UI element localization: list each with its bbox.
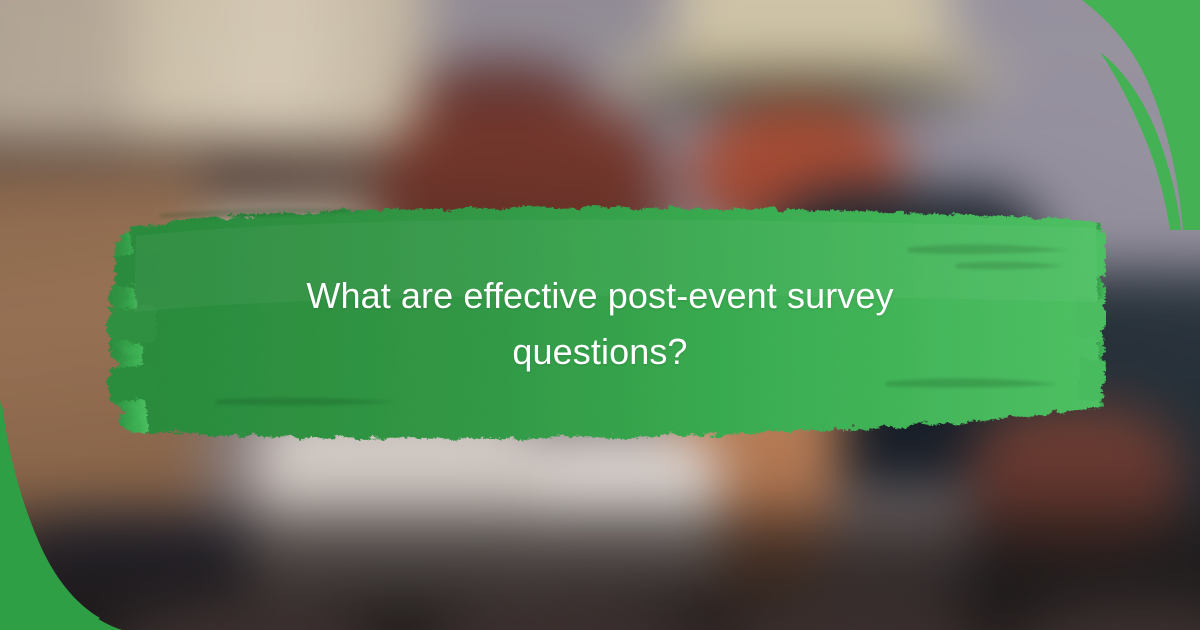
page-title: What are effective post-event survey que…	[0, 268, 1200, 380]
social-question-card: What are effective post-event survey que…	[0, 0, 1200, 630]
